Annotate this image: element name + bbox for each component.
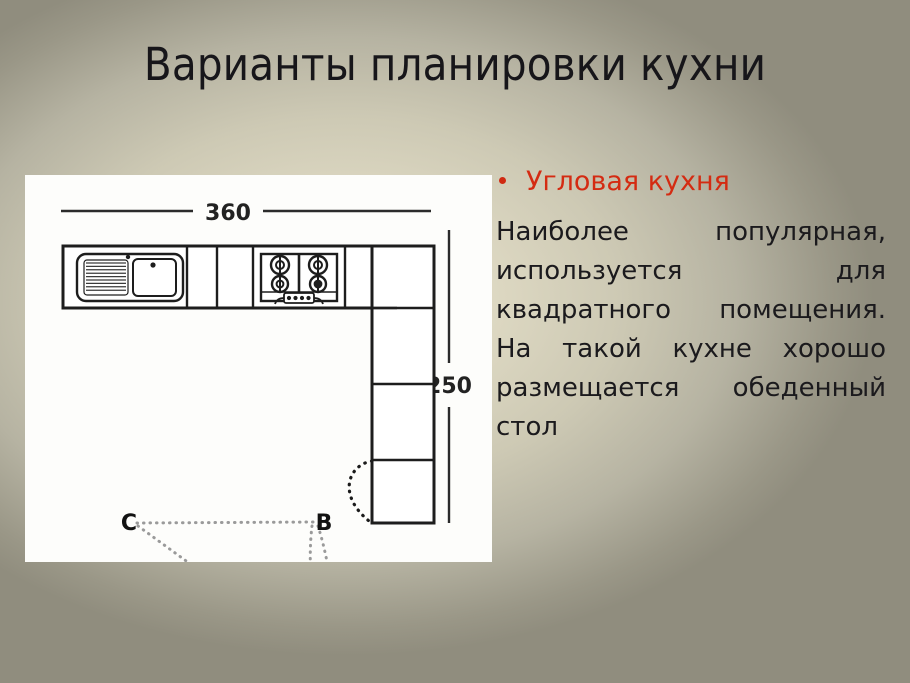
door-swing-arc (349, 461, 372, 521)
dimension-top-label: 360 (205, 201, 251, 226)
sink-drain-dot (150, 262, 155, 267)
label-point-c: C (121, 511, 137, 536)
dimension-top-group: 360 (61, 201, 431, 226)
bullet-item-corner-kitchen: Угловая кухня (494, 165, 886, 199)
text-column: Угловая кухня Наиболее популярная, испол… (494, 165, 886, 447)
sink-icon (77, 254, 183, 301)
burner-bottom-right (310, 275, 326, 293)
body-line-1: Наиболее популярная, (496, 217, 886, 247)
hob-icon (261, 254, 337, 304)
body-line-2: используется для (496, 256, 886, 286)
body-line-6: размещается (496, 373, 679, 403)
bullet-heading-text: Угловая кухня (526, 166, 730, 197)
triangle-edge-c-a (138, 526, 328, 562)
corner-fill (374, 248, 432, 306)
bullet-dot-icon (499, 177, 506, 184)
burner-top-left (271, 255, 289, 275)
body-line-5: кухне хорошо (672, 334, 886, 364)
floor-plan-panel: 360 250 (25, 175, 492, 562)
body-line-3: квадратного (496, 295, 671, 325)
work-triangle-group (137, 522, 334, 562)
page-title: Варианты планировки кухни (0, 36, 910, 94)
burner-bottom-left (272, 275, 288, 293)
slide-canvas: Варианты планировки кухни 360 250 (0, 0, 910, 683)
floor-plan-drawing: 360 250 (25, 175, 492, 562)
burner-top-right (309, 255, 327, 275)
label-point-b: B (316, 511, 333, 536)
sink-tap-dot (126, 255, 130, 259)
body-paragraph: Наиболее популярная, используется для кв… (494, 213, 886, 447)
triangle-edge-c-b (137, 522, 313, 523)
